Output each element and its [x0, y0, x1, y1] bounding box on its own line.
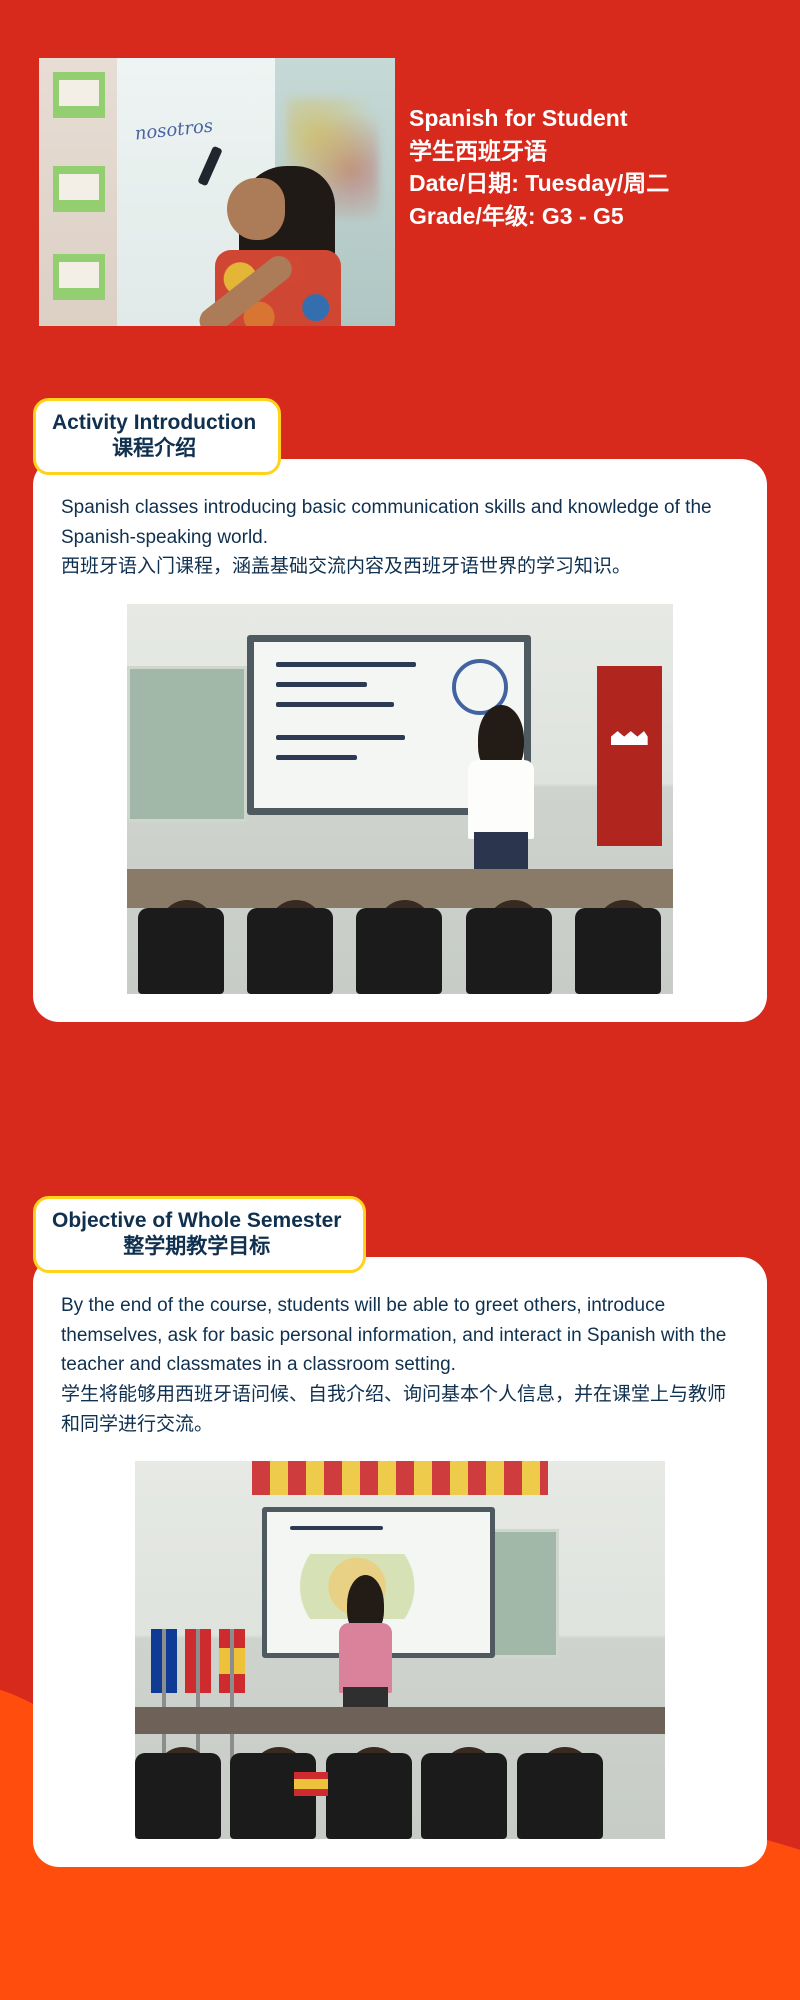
hero-sticky-note-wall — [39, 58, 119, 326]
poster-header: nosotros Spanish for Student 学生西班牙语 Date… — [39, 58, 761, 288]
activity-body-en: Spanish classes introducing basic commun… — [61, 493, 739, 552]
handheld-spain-flag — [294, 1772, 328, 1796]
header-text-block: Spanish for Student 学生西班牙语 Date/日期: Tues… — [409, 58, 669, 233]
section-tab-label-en: Objective of Whole Semester — [52, 1208, 341, 1234]
header-title-en: Spanish for Student — [409, 102, 669, 135]
classroom-teacher-figure — [466, 705, 537, 877]
classroom-chair — [466, 908, 552, 994]
sticky-note — [53, 72, 105, 118]
activity-photo-wrap — [61, 604, 739, 994]
slide-text-line — [276, 755, 357, 760]
classroom-flag-bunting — [252, 1461, 549, 1495]
objective-photo-wrap — [61, 1461, 739, 1839]
poster-root: nosotros Spanish for Student 学生西班牙语 Date… — [0, 0, 800, 2000]
section-tab-label-en: Activity Introduction — [52, 410, 256, 436]
section-card-activity-introduction: Spanish classes introducing basic commun… — [33, 459, 767, 1022]
slide-text-line — [276, 735, 406, 740]
teacher-face — [227, 178, 285, 240]
slide-text-line — [276, 702, 395, 707]
header-date-line: Date/日期: Tuesday/周二 — [409, 167, 669, 200]
classroom-chair — [356, 908, 442, 994]
section-objective-whole-semester: Objective of Whole Semester 整学期教学目标 By t… — [33, 1196, 767, 1867]
classroom-red-wall-panel — [597, 666, 663, 845]
classroom-student-rows — [127, 862, 673, 995]
sticky-note — [53, 166, 105, 212]
activity-classroom-photo — [127, 604, 673, 994]
classroom-chair — [575, 908, 661, 994]
activity-body-zh: 西班牙语入门课程，涵盖基础交流内容及西班牙语世界的学习知识。 — [61, 552, 739, 582]
classroom-teacher-figure — [336, 1575, 394, 1726]
classroom-chair — [517, 1753, 603, 1839]
classroom-chair — [230, 1753, 316, 1839]
classroom-student-rows — [135, 1711, 665, 1840]
section-tab-label-zh: 整学期教学目标 — [52, 1234, 341, 1260]
slide-title-line — [290, 1526, 384, 1530]
objective-body-en: By the end of the course, students will … — [61, 1291, 739, 1380]
section-tab-objective: Objective of Whole Semester 整学期教学目标 — [33, 1196, 366, 1273]
section-tab-activity-introduction: Activity Introduction 课程介绍 — [33, 398, 281, 475]
classroom-green-board — [127, 666, 247, 822]
objective-body-zh: 学生将能够用西班牙语问候、自我介绍、询问基本个人信息，并在课堂上与教师和同学进行… — [61, 1380, 739, 1439]
slide-text-line — [276, 662, 416, 667]
hero-teacher-figure — [161, 126, 341, 326]
teacher-white-blouse — [468, 760, 533, 839]
classroom-chair — [421, 1753, 507, 1839]
classroom-chair — [135, 1753, 221, 1839]
header-title-zh: 学生西班牙语 — [409, 135, 669, 168]
section-tab-label-zh: 课程介绍 — [52, 436, 256, 462]
sticky-note — [53, 254, 105, 300]
classroom-chair — [326, 1753, 412, 1839]
classroom-chair — [247, 908, 333, 994]
whiteboard-marker — [197, 146, 222, 187]
teacher-pink-top — [339, 1623, 393, 1693]
section-card-objective: By the end of the course, students will … — [33, 1257, 767, 1867]
slide-text-line — [276, 682, 368, 687]
header-grade-line: Grade/年级: G3 - G5 — [409, 200, 669, 233]
classroom-chair — [138, 908, 224, 994]
objective-classroom-photo — [135, 1461, 665, 1839]
section-activity-introduction: Activity Introduction 课程介绍 Spanish class… — [33, 398, 767, 1022]
header-hero-photo: nosotros — [39, 58, 395, 326]
